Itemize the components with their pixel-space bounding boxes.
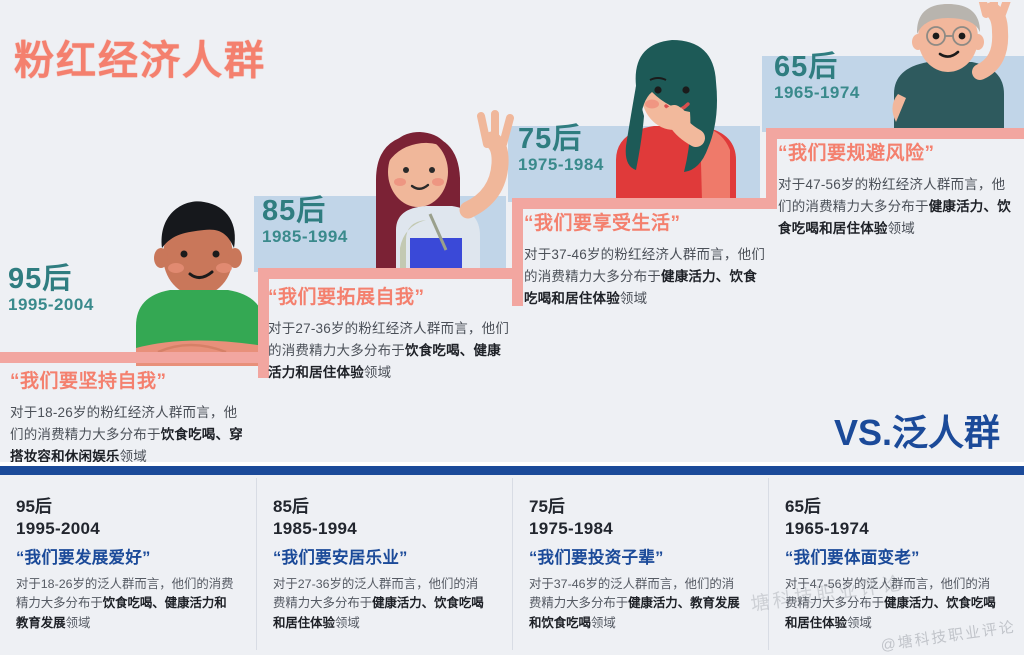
section-divider-bar xyxy=(0,466,1024,475)
body-95: 对于18-26岁的粉红经济人群而言，他们的消费精力大多分布于饮食吃喝、穿搭妆容和… xyxy=(10,402,250,462)
text-block-95: “我们要坚持自我” 对于18-26岁的粉红经济人群而言，他们的消费精力大多分布于… xyxy=(10,366,250,462)
general-body-85: 对于27-36岁的泛人群而言，他们的消费精力大多分布于健康活力、饮食吃喝和居住体… xyxy=(273,575,490,634)
general-year-85: 85后 xyxy=(273,496,490,518)
general-body-65: 对于47-56岁的泛人群而言，他们的消费精力大多分布于健康活力、饮食吃喝和居住体… xyxy=(785,575,1002,634)
general-body-75-post: 领域 xyxy=(591,616,616,630)
general-range-75: 1975-1984 xyxy=(529,518,746,540)
text-block-65: “我们要规避风险” 对于47-56岁的粉红经济人群而言，他们的消费精力大多分布于… xyxy=(778,138,1018,240)
cohort-label-95: 95后 1995-2004 xyxy=(8,264,94,317)
body-75: 对于37-46岁的粉红经济人群而言，他们的消费精力大多分布于健康活力、饮食吃喝和… xyxy=(524,244,766,310)
general-range-85: 1985-1994 xyxy=(273,518,490,540)
infographic-canvas: 粉红经济人群 xyxy=(0,0,1024,650)
general-year-65: 65后 xyxy=(785,496,1002,518)
staircase-rail-65-left xyxy=(766,128,777,170)
person-illustration-85 xyxy=(340,110,530,280)
cohort-range-85: 1985-1994 xyxy=(262,226,348,248)
general-quote-65: “我们要体面变老” xyxy=(785,544,1002,568)
cohort-label-75: 75后 1975-1984 xyxy=(518,124,604,177)
general-year-95: 95后 xyxy=(16,496,234,518)
body-85: 对于27-36岁的粉红经济人群而言，他们的消费精力大多分布于饮食吃喝、健康活力和… xyxy=(268,318,510,384)
cohort-year-95: 95后 xyxy=(8,264,94,294)
person-illustration-65 xyxy=(876,2,1024,132)
person-illustration-75 xyxy=(596,20,756,200)
general-column-85: 85后 1985-1994 “我们要安居乐业” 对于27-36岁的泛人群而言，他… xyxy=(256,478,512,650)
general-body-75: 对于37-46岁的泛人群而言，他们的消费精力大多分布于健康活力、教育发展和饮食吃… xyxy=(529,575,746,634)
general-body-65-post: 领域 xyxy=(847,616,872,630)
cohort-label-85: 85后 1985-1994 xyxy=(262,196,348,249)
general-body-85-post: 领域 xyxy=(335,616,360,630)
cohort-label-65: 65后 1965-1974 xyxy=(774,52,860,105)
cohort-year-65: 65后 xyxy=(774,52,860,82)
general-body-95: 对于18-26岁的泛人群而言，他们的消费精力大多分布于饮食吃喝、健康活力和教育发… xyxy=(16,575,234,634)
page-title: 粉红经济人群 xyxy=(14,28,266,86)
cohort-year-85: 85后 xyxy=(262,196,348,226)
staircase-rail-85-top xyxy=(258,268,522,279)
cohort-year-75: 75后 xyxy=(518,124,604,154)
cohort-range-65: 1965-1974 xyxy=(774,82,860,104)
body-95-post: 领域 xyxy=(120,449,147,462)
body-65: 对于47-56岁的粉红经济人群而言，他们的消费精力大多分布于健康活力、饮食吃喝和… xyxy=(778,174,1018,240)
quote-75: “我们要享受生活” xyxy=(524,208,766,235)
body-75-post: 领域 xyxy=(620,291,647,306)
body-85-post: 领域 xyxy=(364,365,391,380)
general-quote-75: “我们要投资子辈” xyxy=(529,544,746,568)
staircase-rail-75-left xyxy=(512,198,523,306)
general-range-95: 1995-2004 xyxy=(16,518,234,540)
pink-economy-section: 粉红经济人群 xyxy=(0,0,1024,462)
general-quote-85: “我们要安居乐业” xyxy=(273,544,490,568)
general-year-75: 75后 xyxy=(529,496,746,518)
general-body-95-post: 领域 xyxy=(66,616,91,630)
general-column-75: 75后 1975-1984 “我们要投资子辈” 对于37-46岁的泛人群而言，他… xyxy=(512,478,768,650)
general-column-95: 95后 1995-2004 “我们要发展爱好” 对于18-26岁的泛人群而言，他… xyxy=(0,478,256,650)
general-column-65: 65后 1965-1974 “我们要体面变老” 对于47-56岁的泛人群而言，他… xyxy=(768,478,1024,650)
cohort-range-75: 1975-1984 xyxy=(518,154,604,176)
body-65-post: 领域 xyxy=(888,221,915,236)
quote-95: “我们要坚持自我” xyxy=(10,366,250,393)
staircase-rail-95-top xyxy=(0,352,268,363)
general-range-65: 1965-1974 xyxy=(785,518,1002,540)
vs-label: VS.泛人群 xyxy=(834,404,1000,456)
general-population-section: 95后 1995-2004 “我们要发展爱好” 对于18-26岁的泛人群而言，他… xyxy=(0,478,1024,650)
quote-65: “我们要规避风险” xyxy=(778,138,1018,165)
person-illustration-95 xyxy=(128,176,278,366)
cohort-range-95: 1995-2004 xyxy=(8,294,94,316)
general-quote-95: “我们要发展爱好” xyxy=(16,544,234,568)
text-block-75: “我们要享受生活” 对于37-46岁的粉红经济人群而言，他们的消费精力大多分布于… xyxy=(524,208,766,310)
text-block-85: “我们要拓展自我” 对于27-36岁的粉红经济人群而言，他们的消费精力大多分布于… xyxy=(268,282,510,384)
quote-85: “我们要拓展自我” xyxy=(268,282,510,309)
